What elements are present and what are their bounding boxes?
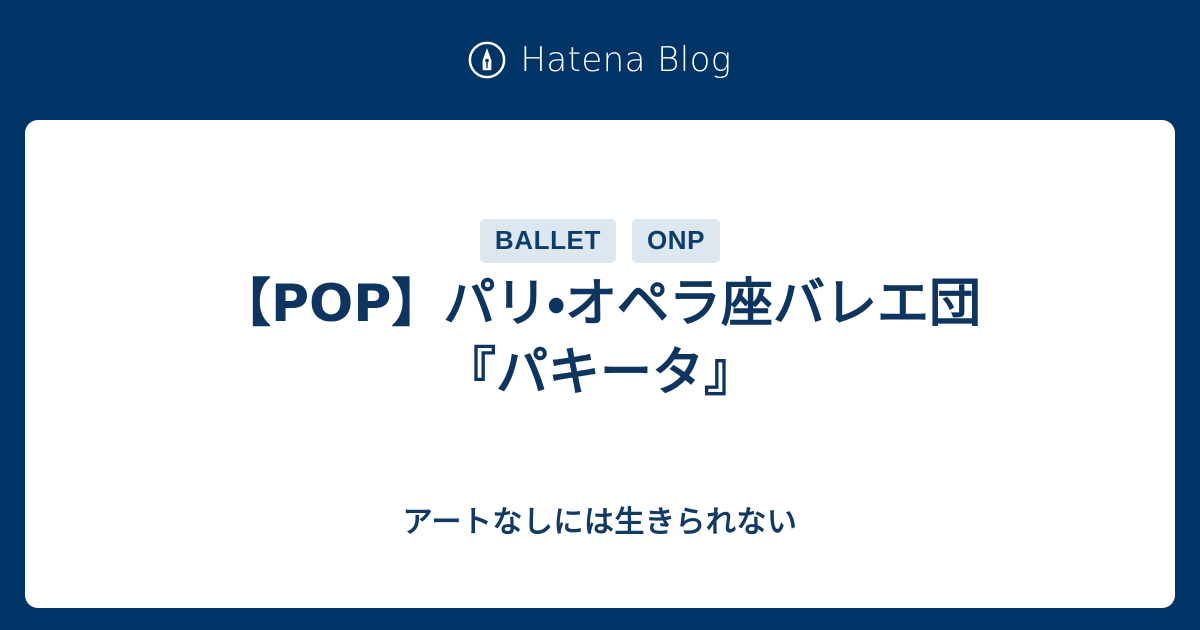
entry-title-line-1: 【POP】パリ・オペラ座バレエ団 [219, 274, 981, 334]
tag-onp[interactable]: ONP [632, 219, 720, 263]
brand-header: Hatena Blog [0, 0, 1200, 120]
blog-title: アートなしには生きられない [25, 505, 1175, 541]
tag-list: BALLET ONP [25, 219, 1175, 263]
brand-name: Hatena Blog [520, 43, 731, 77]
hatena-fountain-pen-nib-icon [468, 41, 506, 79]
og-share-card: Hatena Blog BALLET ONP 【POP】パリ・オペラ座バレエ団 … [0, 0, 1200, 630]
tag-ballet[interactable]: BALLET [480, 219, 616, 263]
entry-title: 【POP】パリ・オペラ座バレエ団 『パキータ』 [85, 270, 1115, 407]
entry-title-line-2: 『パキータ』 [444, 343, 756, 403]
content-card: BALLET ONP 【POP】パリ・オペラ座バレエ団 『パキータ』 アートなし… [25, 120, 1175, 608]
